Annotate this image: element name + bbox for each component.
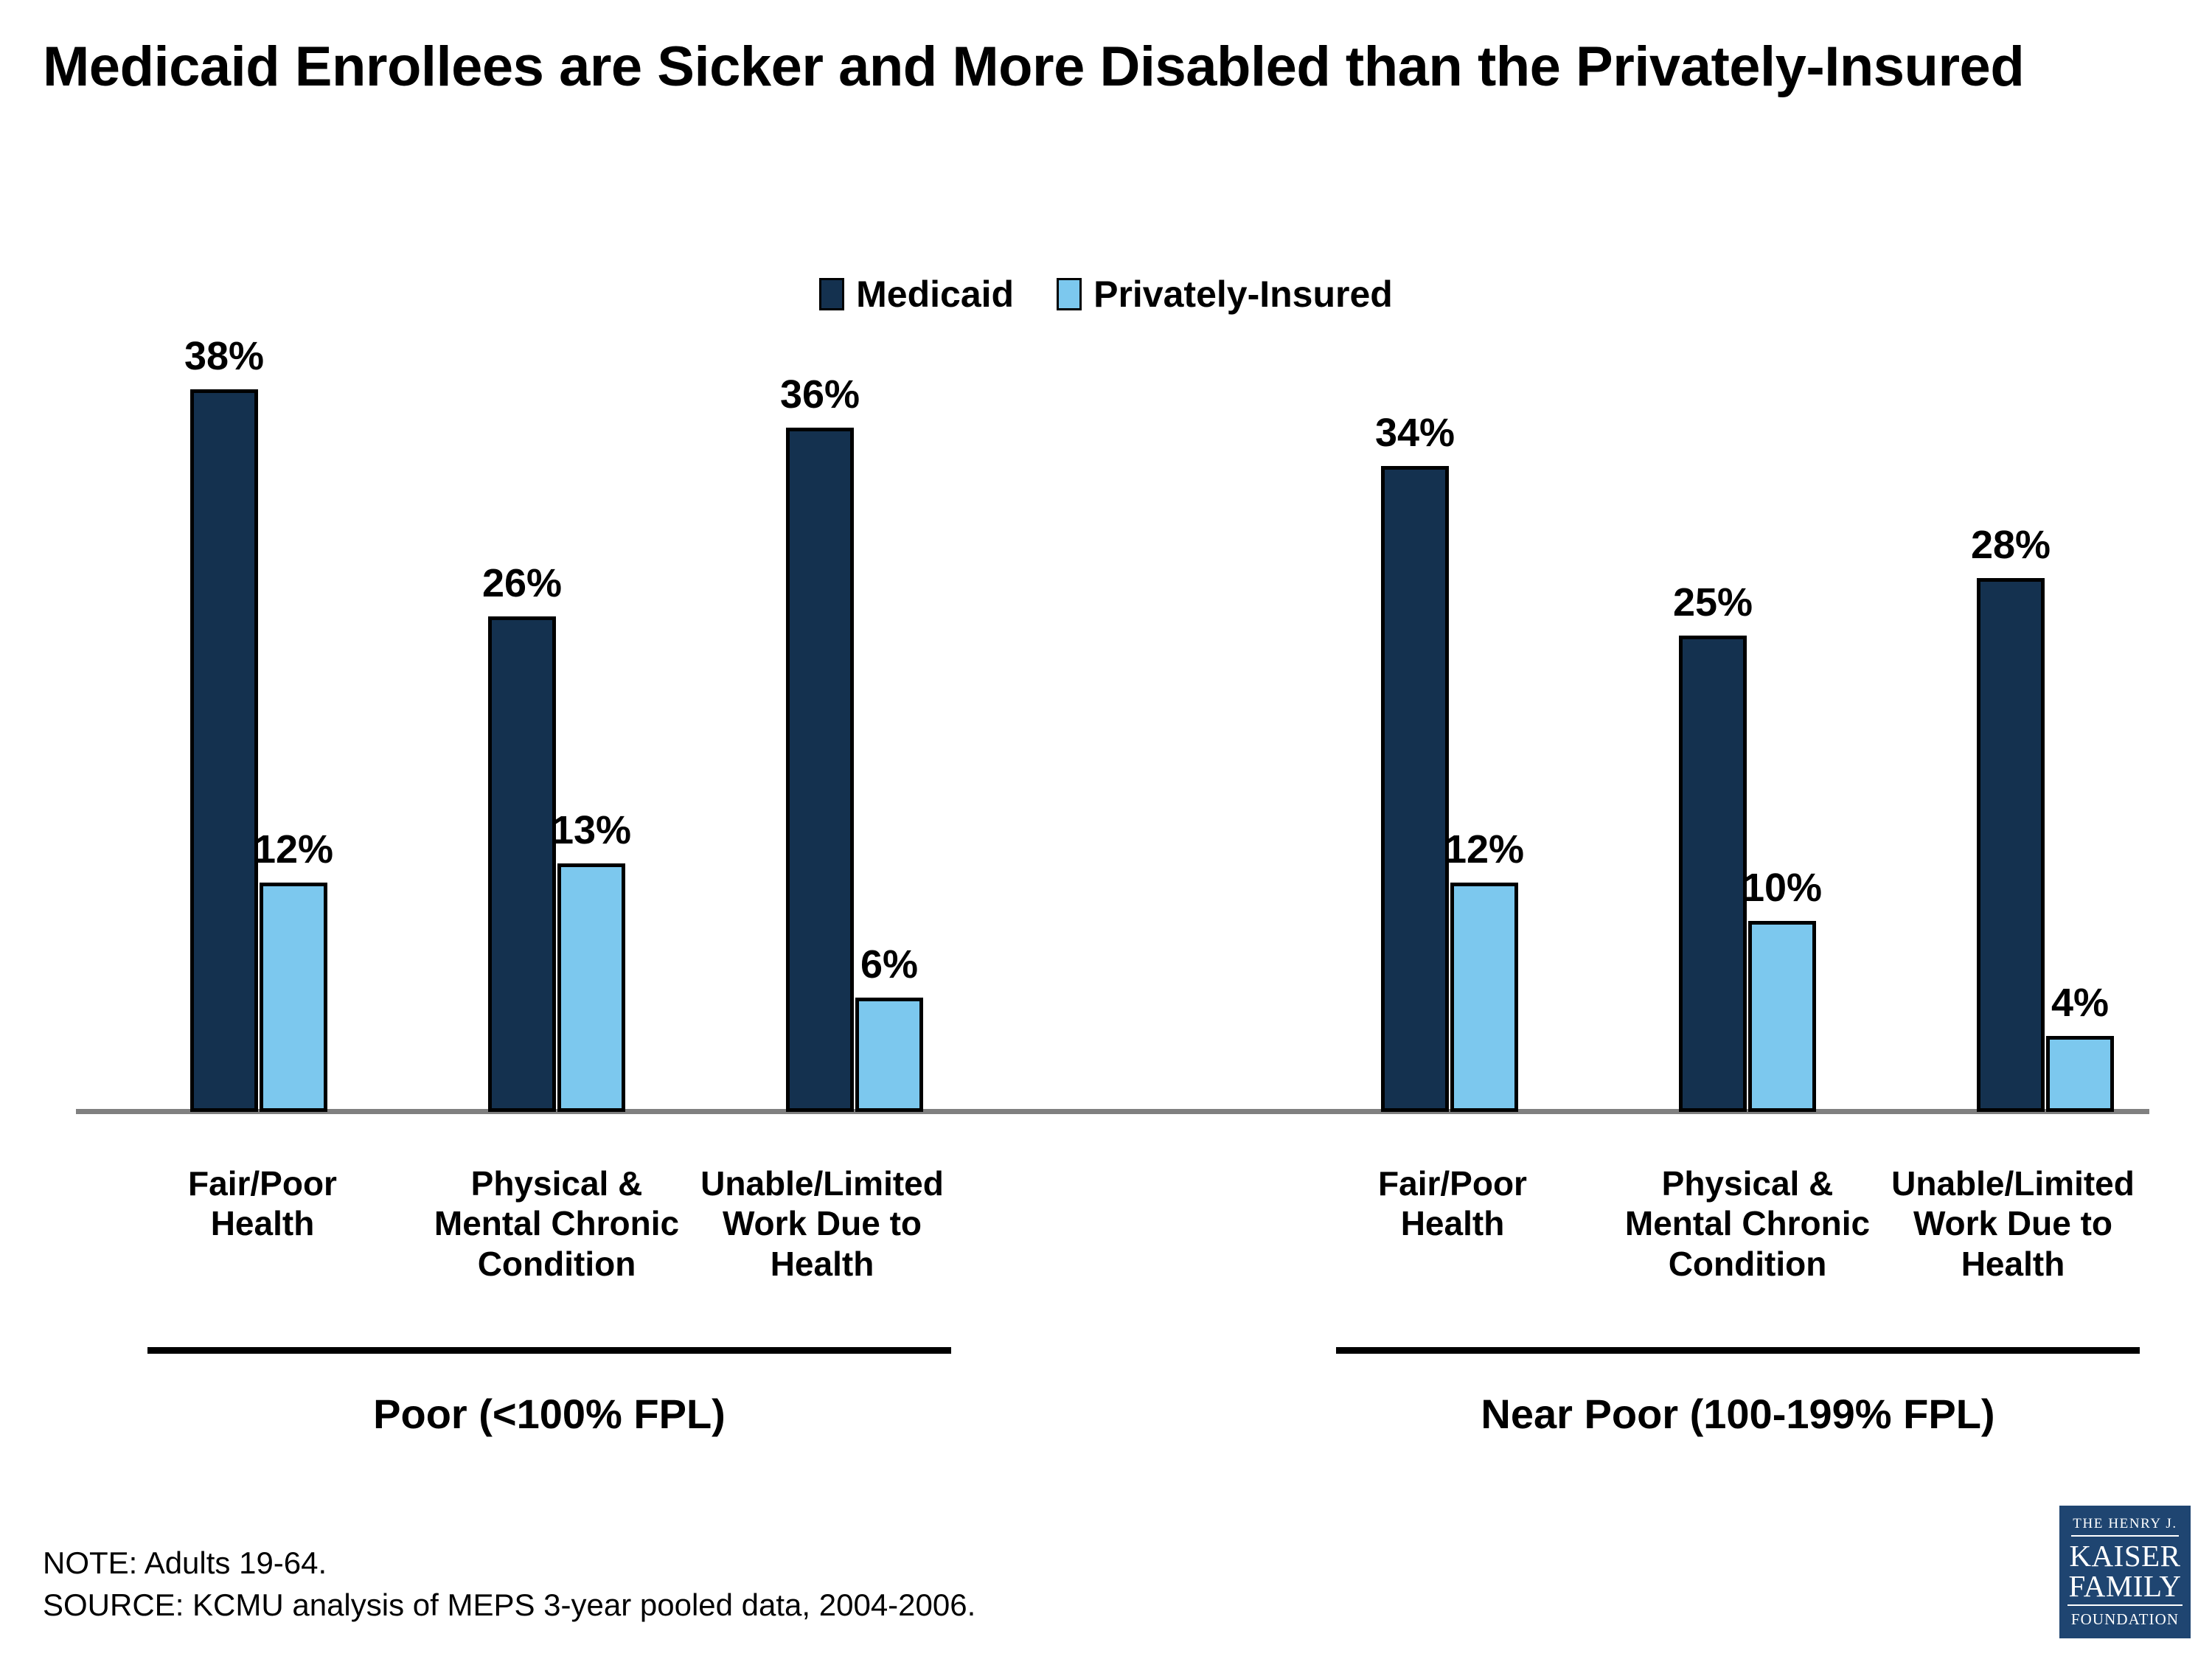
group-rule-poor: [147, 1347, 951, 1354]
bar-value-medicaid-nearpoor-chronic-condition: 25%: [1654, 580, 1772, 625]
cat-line: Fair/Poor: [130, 1164, 395, 1203]
bar-private-poor-fair-poor-health: [260, 883, 327, 1112]
bar-value-medicaid-nearpoor-unable-limited-work: 28%: [1952, 522, 2070, 568]
cat-line: Mental Chronic: [402, 1203, 712, 1243]
cat-line: Mental Chronic: [1593, 1203, 1902, 1243]
cat-line: Work Due to: [1858, 1203, 2168, 1243]
cat-line: Health: [1320, 1203, 1585, 1243]
footer-notes: NOTE: Adults 19-64. SOURCE: KCMU analysi…: [43, 1543, 975, 1626]
bar-value-medicaid-poor-fair-poor-health: 38%: [165, 333, 283, 379]
category-label-nearpoor-unable-limited-work: Unable/Limited Work Due to Health: [1858, 1164, 2168, 1284]
cat-line: Unable/Limited: [667, 1164, 977, 1203]
cat-line: Work Due to: [667, 1203, 977, 1243]
bar-medicaid-poor-fair-poor-health: [190, 389, 258, 1112]
bar-private-nearpoor-unable-limited-work: [2046, 1036, 2114, 1112]
category-label-nearpoor-chronic-condition: Physical & Mental Chronic Condition: [1593, 1164, 1902, 1284]
cat-line: Physical &: [1593, 1164, 1902, 1203]
cat-line: Health: [1858, 1244, 2168, 1284]
group-label-poor: Poor (<100% FPL): [147, 1390, 951, 1438]
bar-medicaid-nearpoor-unable-limited-work: [1977, 578, 2045, 1112]
logo-line-foundation: FOUNDATION: [2071, 1610, 2179, 1629]
bar-medicaid-nearpoor-fair-poor-health: [1381, 466, 1449, 1112]
category-label-poor-chronic-condition: Physical & Mental Chronic Condition: [402, 1164, 712, 1284]
bar-private-nearpoor-fair-poor-health: [1450, 883, 1518, 1112]
bar-medicaid-poor-chronic-condition: [488, 616, 556, 1112]
bar-private-poor-unable-limited-work: [855, 998, 923, 1112]
bar-value-medicaid-poor-unable-limited-work: 36%: [761, 372, 879, 417]
cat-line: Condition: [402, 1244, 712, 1284]
bar-value-private-nearpoor-unable-limited-work: 4%: [2021, 980, 2139, 1026]
note-text: NOTE: Adults 19-64.: [43, 1543, 975, 1585]
bar-value-medicaid-nearpoor-fair-poor-health: 34%: [1356, 410, 1474, 456]
cat-line: Unable/Limited: [1858, 1164, 2168, 1203]
category-label-poor-unable-limited-work: Unable/Limited Work Due to Health: [667, 1164, 977, 1284]
category-label-nearpoor-fair-poor-health: Fair/Poor Health: [1320, 1164, 1585, 1244]
bar-value-medicaid-poor-chronic-condition: 26%: [463, 560, 581, 606]
group-rule-near-poor: [1336, 1347, 2140, 1354]
bar-value-private-nearpoor-fair-poor-health: 12%: [1425, 827, 1543, 872]
bar-private-poor-chronic-condition: [557, 863, 625, 1112]
category-label-poor-fair-poor-health: Fair/Poor Health: [130, 1164, 395, 1244]
x-axis-baseline: [76, 1109, 2149, 1114]
logo-line-the-henry-j: THE HENRY J.: [2071, 1516, 2179, 1537]
logo-line-kaiser: KAISER: [2069, 1541, 2180, 1571]
source-text: SOURCE: KCMU analysis of MEPS 3-year poo…: [43, 1585, 975, 1627]
bar-private-nearpoor-chronic-condition: [1748, 921, 1816, 1112]
cat-line: Condition: [1593, 1244, 1902, 1284]
group-label-near-poor: Near Poor (100-199% FPL): [1336, 1390, 2140, 1438]
bar-medicaid-poor-unable-limited-work: [786, 428, 854, 1112]
bar-chart-plot-area: 38% 12% 26% 13% 36% 6% 34% 12% 25% 10% 2…: [0, 0, 2212, 1659]
logo-line-family: FAMILY: [2067, 1571, 2183, 1606]
cat-line: Fair/Poor: [1320, 1164, 1585, 1203]
bar-value-private-poor-unable-limited-work: 6%: [830, 942, 948, 987]
cat-line: Physical &: [402, 1164, 712, 1203]
kaiser-family-foundation-logo: THE HENRY J. KAISER FAMILY FOUNDATION: [2059, 1506, 2191, 1638]
bar-value-private-poor-chronic-condition: 13%: [532, 807, 650, 853]
cat-line: Health: [130, 1203, 395, 1243]
bar-value-private-poor-fair-poor-health: 12%: [234, 827, 352, 872]
bar-value-private-nearpoor-chronic-condition: 10%: [1723, 865, 1841, 911]
cat-line: Health: [667, 1244, 977, 1284]
